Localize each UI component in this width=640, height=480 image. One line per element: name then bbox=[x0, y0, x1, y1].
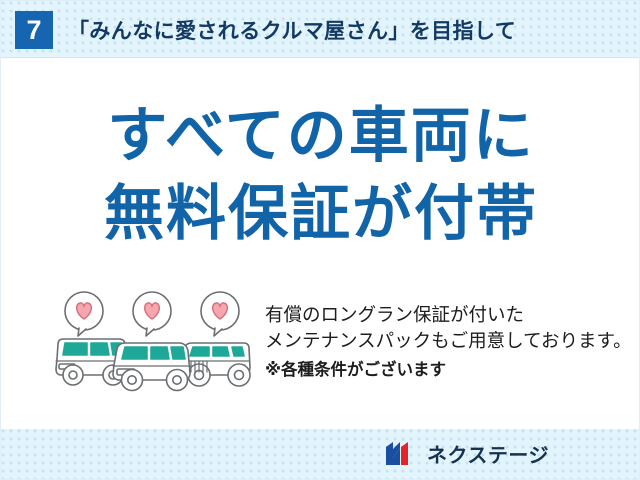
copy-block: 有償のロングラン保証が付いた メンテナンスパックもご用意しております。 ※各種条… bbox=[265, 289, 640, 383]
cars-illustration bbox=[53, 289, 259, 401]
brand-name: ネクステージ bbox=[427, 439, 549, 468]
heart-bubble-2 bbox=[133, 292, 171, 336]
car-minivan bbox=[113, 343, 190, 391]
header-content: 7 「みんなに愛されるクルマ屋さん」を目指して bbox=[1, 1, 640, 58]
copy-line-1: 有償のロングラン保証が付いた bbox=[265, 303, 640, 329]
nextage-logo-icon bbox=[385, 441, 419, 466]
content-row: 有償のロングラン保証が付いた メンテナンスパックもご用意しております。 ※各種条… bbox=[1, 289, 640, 409]
advertisement-banner: 7 「みんなに愛されるクルマ屋さん」を目指して すべての車両に 無料保証が付帯 bbox=[0, 0, 640, 480]
brand-lockup: ネクステージ bbox=[385, 439, 549, 468]
copy-note: ※各種条件がございます bbox=[265, 357, 640, 383]
header-divider bbox=[1, 57, 640, 58]
headline-block: すべての車両に 無料保証が付帯 bbox=[1, 97, 640, 253]
header-title: 「みんなに愛されるクルマ屋さん」を目指して bbox=[68, 15, 516, 45]
header-bar: 7 「みんなに愛されるクルマ屋さん」を目指して bbox=[1, 1, 640, 58]
heart-bubble-1 bbox=[65, 292, 103, 336]
headline-line-1: すべての車両に bbox=[1, 97, 640, 175]
headline-line-2: 無料保証が付帯 bbox=[1, 175, 640, 253]
copy-line-2: メンテナンスパックもご用意しております。 bbox=[265, 329, 640, 355]
section-number-badge: 7 bbox=[15, 11, 53, 49]
heart-bubble-3 bbox=[201, 292, 239, 336]
footer-bar: ネクステージ bbox=[1, 429, 640, 480]
